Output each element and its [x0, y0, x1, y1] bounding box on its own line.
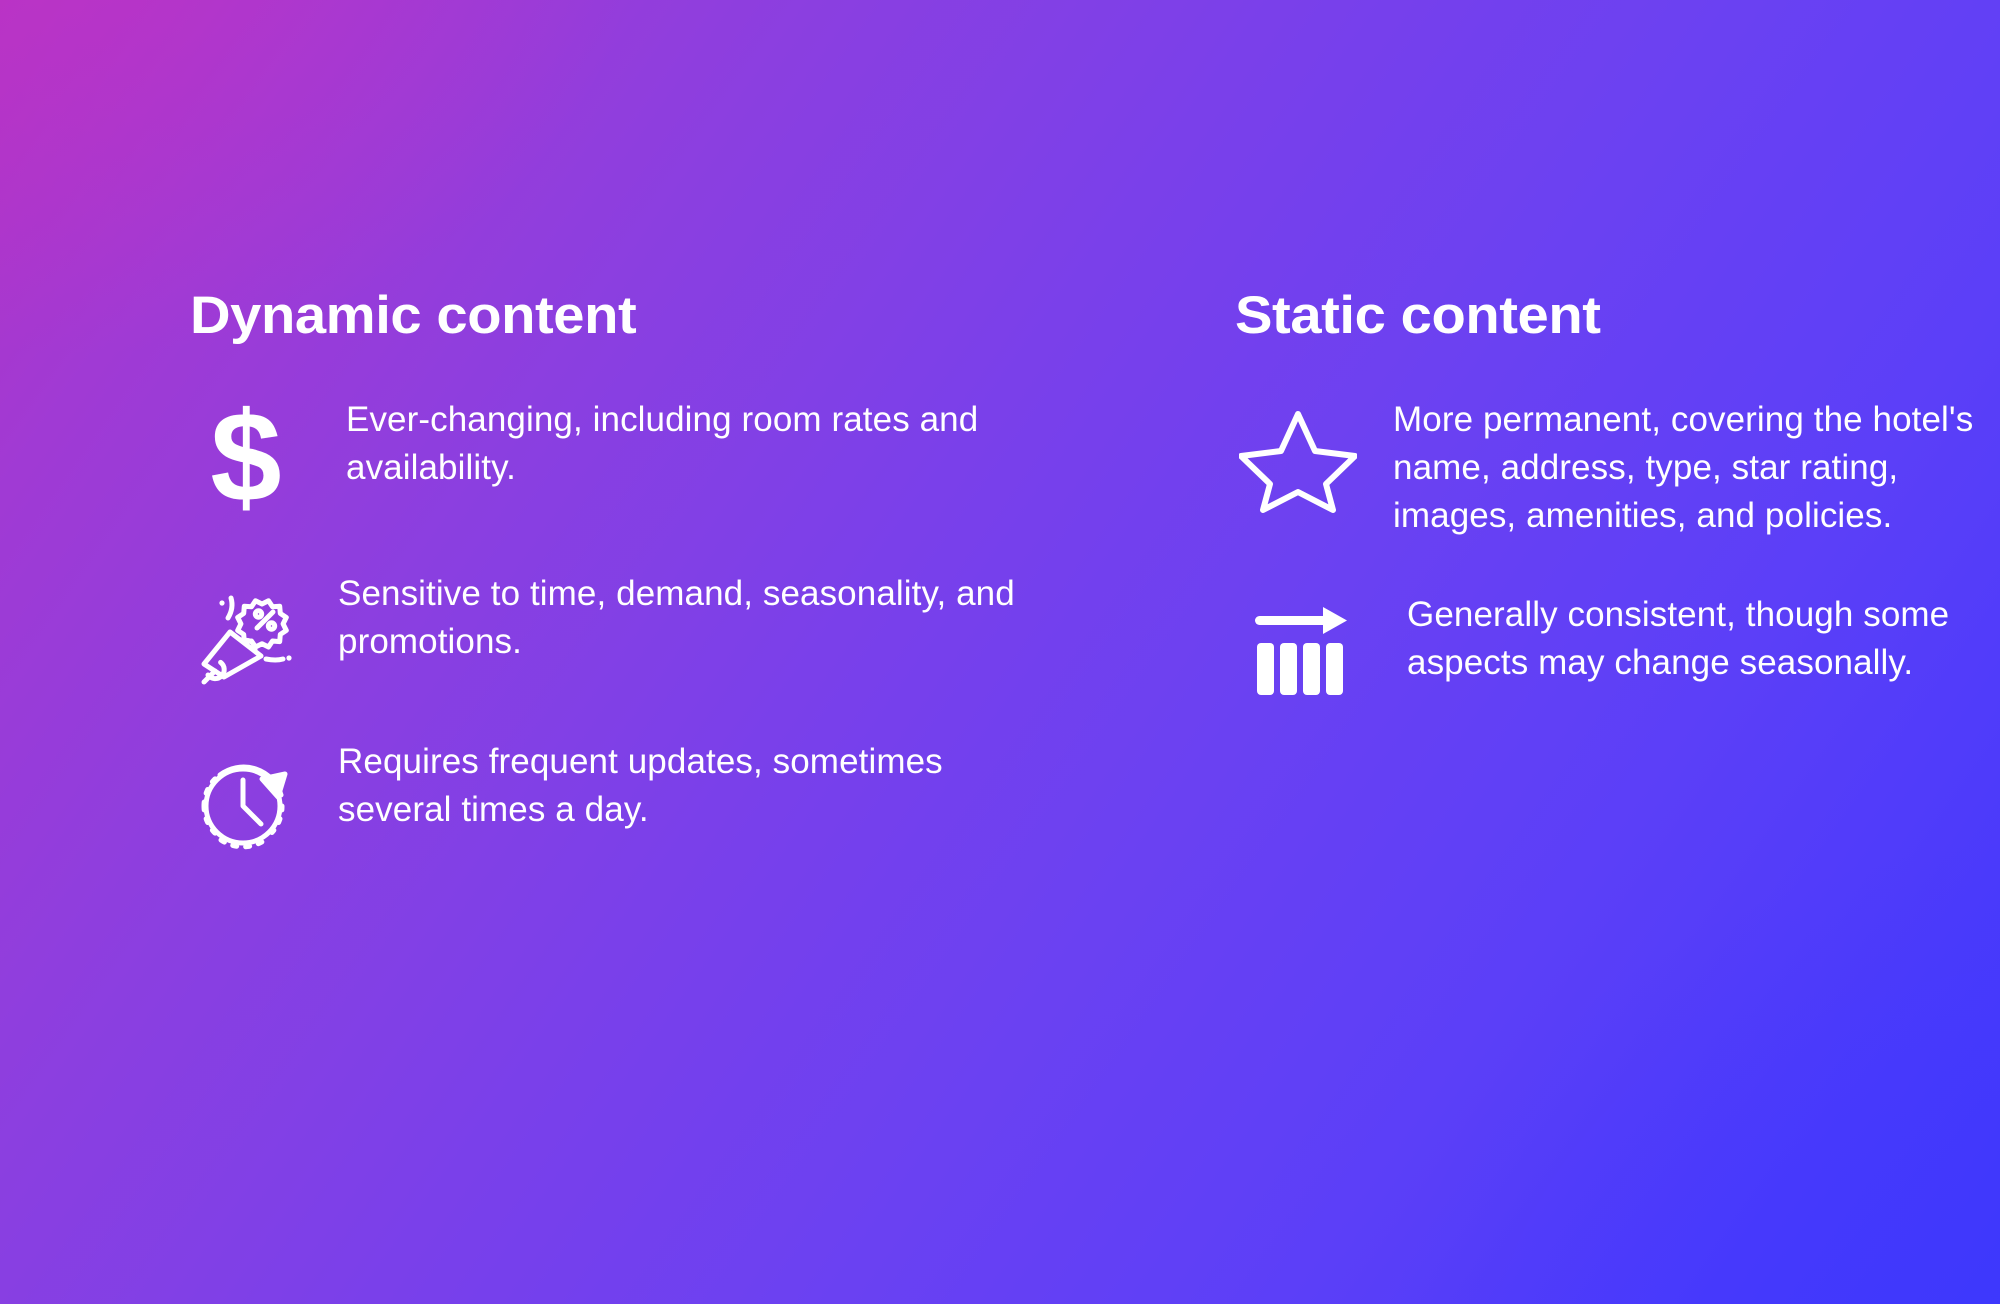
slide-dynamic-vs-static-content: Dynamic content $ Ever-changing, includi… [0, 0, 2000, 1304]
column-title-static: Static content [1235, 288, 2000, 344]
list-item-text: Ever-changing, including room rates and … [346, 396, 1036, 493]
list-item-text: Generally consistent, though some aspect… [1407, 591, 2000, 688]
list-item-text: Sensitive to time, demand, seasonality, … [338, 570, 1028, 667]
list-item: Requires frequent updates, sometimes sev… [190, 738, 1155, 858]
list-item: More permanent, covering the hotel's nam… [1235, 396, 2000, 541]
two-column-layout: Dynamic content $ Ever-changing, includi… [0, 0, 2000, 1304]
list-item-text: More permanent, covering the hotel's nam… [1393, 396, 2000, 541]
star-outline-icon [1239, 406, 1357, 518]
clock-refresh-icon [190, 748, 300, 858]
list-item-text: Requires frequent updates, sometimes sev… [338, 738, 1028, 835]
dollar-sign-icon: $ [198, 398, 308, 522]
list-item: $ Ever-changing, including room rates an… [190, 396, 1155, 522]
list-item: Generally consistent, though some aspect… [1235, 591, 2000, 695]
list-item: Sensitive to time, demand, seasonality, … [190, 570, 1155, 690]
svg-text:$: $ [210, 398, 281, 522]
column-title-dynamic: Dynamic content [190, 288, 1213, 344]
dynamic-content-item-list: $ Ever-changing, including room rates an… [190, 396, 1155, 858]
bar-chart-arrow-icon [1253, 607, 1371, 695]
megaphone-discount-icon [190, 580, 300, 690]
static-content-item-list: More permanent, covering the hotel's nam… [1235, 396, 2000, 695]
column-dynamic-content: Dynamic content $ Ever-changing, includi… [0, 0, 1155, 1304]
column-static-content: Static content More permanent, covering … [1155, 0, 2000, 1304]
